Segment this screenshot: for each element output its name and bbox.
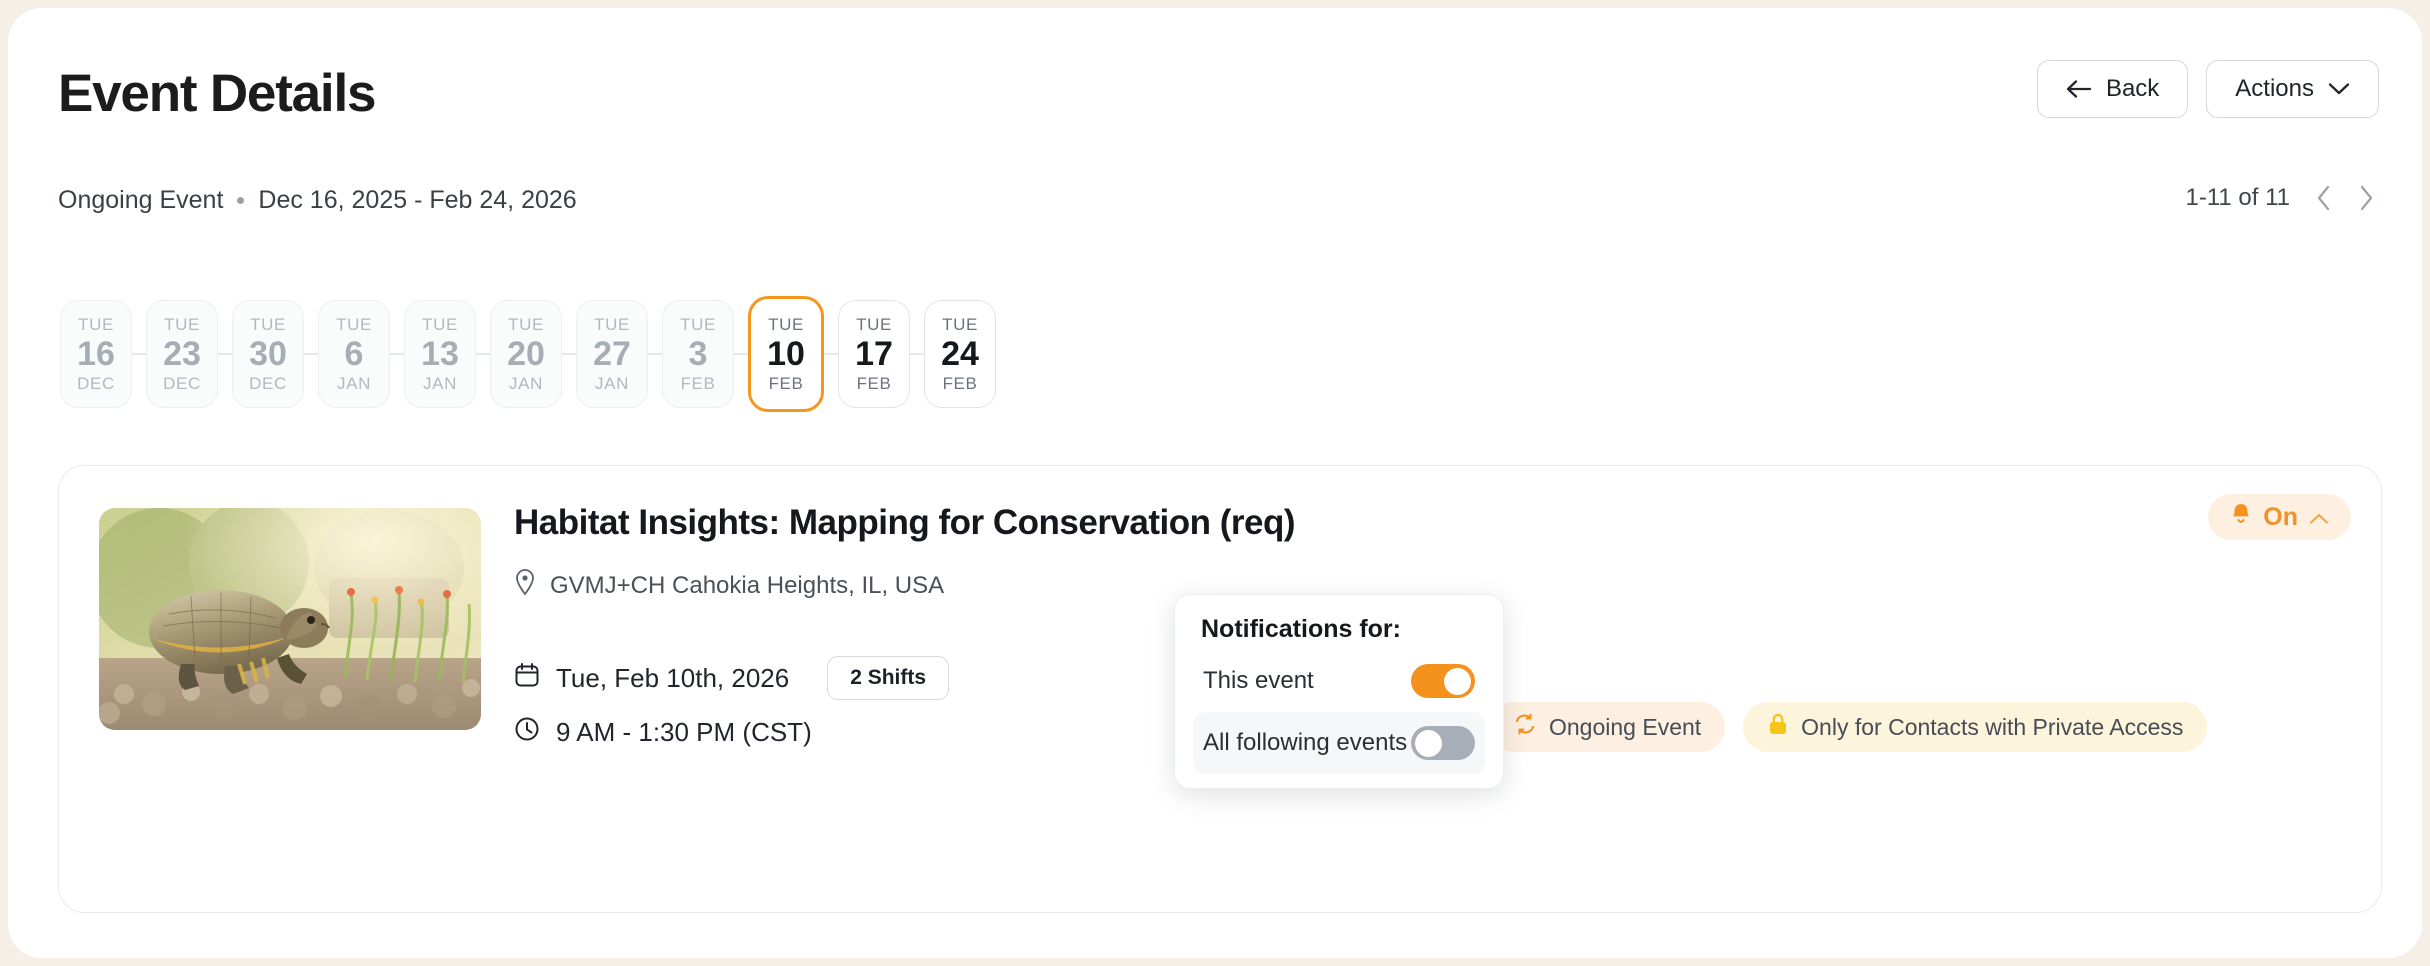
bell-icon	[2230, 502, 2252, 533]
clock-icon	[514, 716, 540, 749]
event-title: Habitat Insights: Mapping for Conservati…	[514, 503, 1295, 543]
date-chip-day: 24	[941, 333, 979, 376]
chip-connector	[476, 353, 490, 355]
date-chip-dow: TUE	[768, 316, 804, 333]
tortoise-photo	[99, 508, 481, 730]
event-status-text: Ongoing Event	[58, 186, 223, 215]
calendar-icon	[514, 662, 540, 695]
date-chip-day: 30	[249, 333, 287, 376]
event-card: Habitat Insights: Mapping for Conservati…	[58, 465, 2382, 913]
pagination-range: 1-11 of 11	[2185, 184, 2290, 212]
date-chip-jan-27[interactable]: TUE27JAN	[576, 300, 648, 408]
notification-row-all-following-label: All following events	[1203, 729, 1407, 757]
notifications-popup-title: Notifications for:	[1193, 615, 1485, 650]
event-date-text: Tue, Feb 10th, 2026	[556, 663, 789, 694]
date-chip-dow: TUE	[78, 316, 114, 333]
date-chip-month: FEB	[681, 375, 716, 392]
date-chip-month: JAN	[595, 375, 629, 392]
notifications-toggle-label: On	[2263, 503, 2298, 532]
date-chip-dow: TUE	[594, 316, 630, 333]
event-badges: Ongoing Event Only for Contacts with Pri…	[1489, 702, 2207, 752]
pagination: 1-11 of 11	[2185, 184, 2374, 212]
notification-row-this-event[interactable]: This event	[1193, 650, 1485, 712]
shifts-badge[interactable]: 2 Shifts	[827, 656, 949, 700]
event-thumbnail	[99, 508, 481, 730]
notification-row-this-event-label: This event	[1203, 667, 1314, 695]
date-chip-month: FEB	[857, 375, 892, 392]
lock-icon	[1767, 712, 1789, 742]
chip-connector	[824, 353, 838, 355]
toggle-this-event[interactable]	[1411, 664, 1475, 698]
chip-connector	[734, 353, 748, 355]
status-badge-private-access: Only for Contacts with Private Access	[1743, 702, 2207, 752]
status-badge-private-access-label: Only for Contacts with Private Access	[1801, 714, 2183, 741]
date-chip-day: 16	[77, 333, 115, 376]
status-badge-ongoing: Ongoing Event	[1489, 702, 1725, 752]
chip-connector	[304, 353, 318, 355]
date-chip-month: FEB	[769, 375, 804, 392]
date-chip-day: 27	[593, 333, 631, 376]
toggle-knob	[1444, 668, 1471, 695]
date-chip-month: DEC	[163, 375, 201, 392]
toggle-all-following-events[interactable]	[1411, 726, 1475, 760]
date-chip-dec-16[interactable]: TUE16DEC	[60, 300, 132, 408]
dot-separator	[237, 197, 244, 204]
chevron-left-icon[interactable]	[2316, 185, 2332, 211]
date-chip-month: FEB	[943, 375, 978, 392]
date-chip-month: DEC	[249, 375, 287, 392]
date-chip-list: TUE16DECTUE23DECTUE30DECTUE6JANTUE13JANT…	[60, 296, 996, 412]
chip-connector	[218, 353, 232, 355]
date-chip-dec-30[interactable]: TUE30DEC	[232, 300, 304, 408]
date-chip-dow: TUE	[508, 316, 544, 333]
notification-row-all-following[interactable]: All following events	[1193, 712, 1485, 774]
page-shell: Event Details Back Actions	[8, 8, 2422, 958]
date-chip-dow: TUE	[942, 316, 978, 333]
event-location: GVMJ+CH Cahokia Heights, IL, USA	[514, 568, 944, 603]
date-chip-jan-20[interactable]: TUE20JAN	[490, 300, 562, 408]
date-chip-dow: TUE	[422, 316, 458, 333]
notifications-popup: Notifications for: This event All follow…	[1174, 594, 1504, 789]
arrow-left-icon	[2066, 79, 2092, 99]
event-date-range: Dec 16, 2025 - Feb 24, 2026	[258, 186, 576, 215]
actions-button[interactable]: Actions	[2206, 60, 2379, 118]
date-chip-month: JAN	[509, 375, 543, 392]
chevron-right-icon[interactable]	[2358, 185, 2374, 211]
date-chip-dow: TUE	[250, 316, 286, 333]
back-button-label: Back	[2106, 75, 2159, 103]
date-chip-day: 10	[767, 333, 805, 376]
date-chip-dow: TUE	[680, 316, 716, 333]
date-chip-day: 6	[345, 333, 364, 376]
page-title: Event Details	[58, 63, 375, 124]
notifications-toggle-button[interactable]: On	[2208, 494, 2351, 540]
subheader: Ongoing Event Dec 16, 2025 - Feb 24, 202…	[58, 186, 577, 215]
date-chip-jan-13[interactable]: TUE13JAN	[404, 300, 476, 408]
date-chip-month: DEC	[77, 375, 115, 392]
status-badge-ongoing-label: Ongoing Event	[1549, 714, 1701, 741]
date-chip-feb-10[interactable]: TUE10FEB	[748, 296, 824, 412]
map-pin-icon	[514, 568, 536, 603]
toggle-knob	[1415, 730, 1442, 757]
actions-button-label: Actions	[2235, 75, 2314, 103]
date-chip-day: 13	[421, 333, 459, 376]
date-chip-feb-24[interactable]: TUE24FEB	[924, 300, 996, 408]
chip-connector	[648, 353, 662, 355]
date-chip-dow: TUE	[856, 316, 892, 333]
date-chip-day: 17	[855, 333, 893, 376]
chip-connector	[132, 353, 146, 355]
date-chip-feb-3[interactable]: TUE3FEB	[662, 300, 734, 408]
date-chip-month: JAN	[337, 375, 371, 392]
chevron-up-icon	[2309, 503, 2329, 532]
header: Event Details Back Actions	[8, 8, 2422, 158]
event-time-text: 9 AM - 1:30 PM (CST)	[556, 717, 812, 748]
chip-connector	[910, 353, 924, 355]
chevron-down-icon	[2328, 82, 2350, 96]
date-chip-jan-6[interactable]: TUE6JAN	[318, 300, 390, 408]
event-time-row: 9 AM - 1:30 PM (CST)	[514, 716, 812, 749]
refresh-icon	[1513, 712, 1537, 742]
chip-connector	[390, 353, 404, 355]
header-actions: Back Actions	[2037, 60, 2379, 118]
date-chip-feb-17[interactable]: TUE17FEB	[838, 300, 910, 408]
back-button[interactable]: Back	[2037, 60, 2188, 118]
event-location-text: GVMJ+CH Cahokia Heights, IL, USA	[550, 572, 944, 600]
date-chip-day: 23	[163, 333, 201, 376]
date-chip-month: JAN	[423, 375, 457, 392]
date-chip-day: 20	[507, 333, 545, 376]
date-chip-dow: TUE	[336, 316, 372, 333]
date-chip-dec-23[interactable]: TUE23DEC	[146, 300, 218, 408]
chip-connector	[562, 353, 576, 355]
date-chip-day: 3	[689, 333, 708, 376]
date-chip-dow: TUE	[164, 316, 200, 333]
event-date-row: Tue, Feb 10th, 2026 2 Shifts	[514, 656, 949, 700]
